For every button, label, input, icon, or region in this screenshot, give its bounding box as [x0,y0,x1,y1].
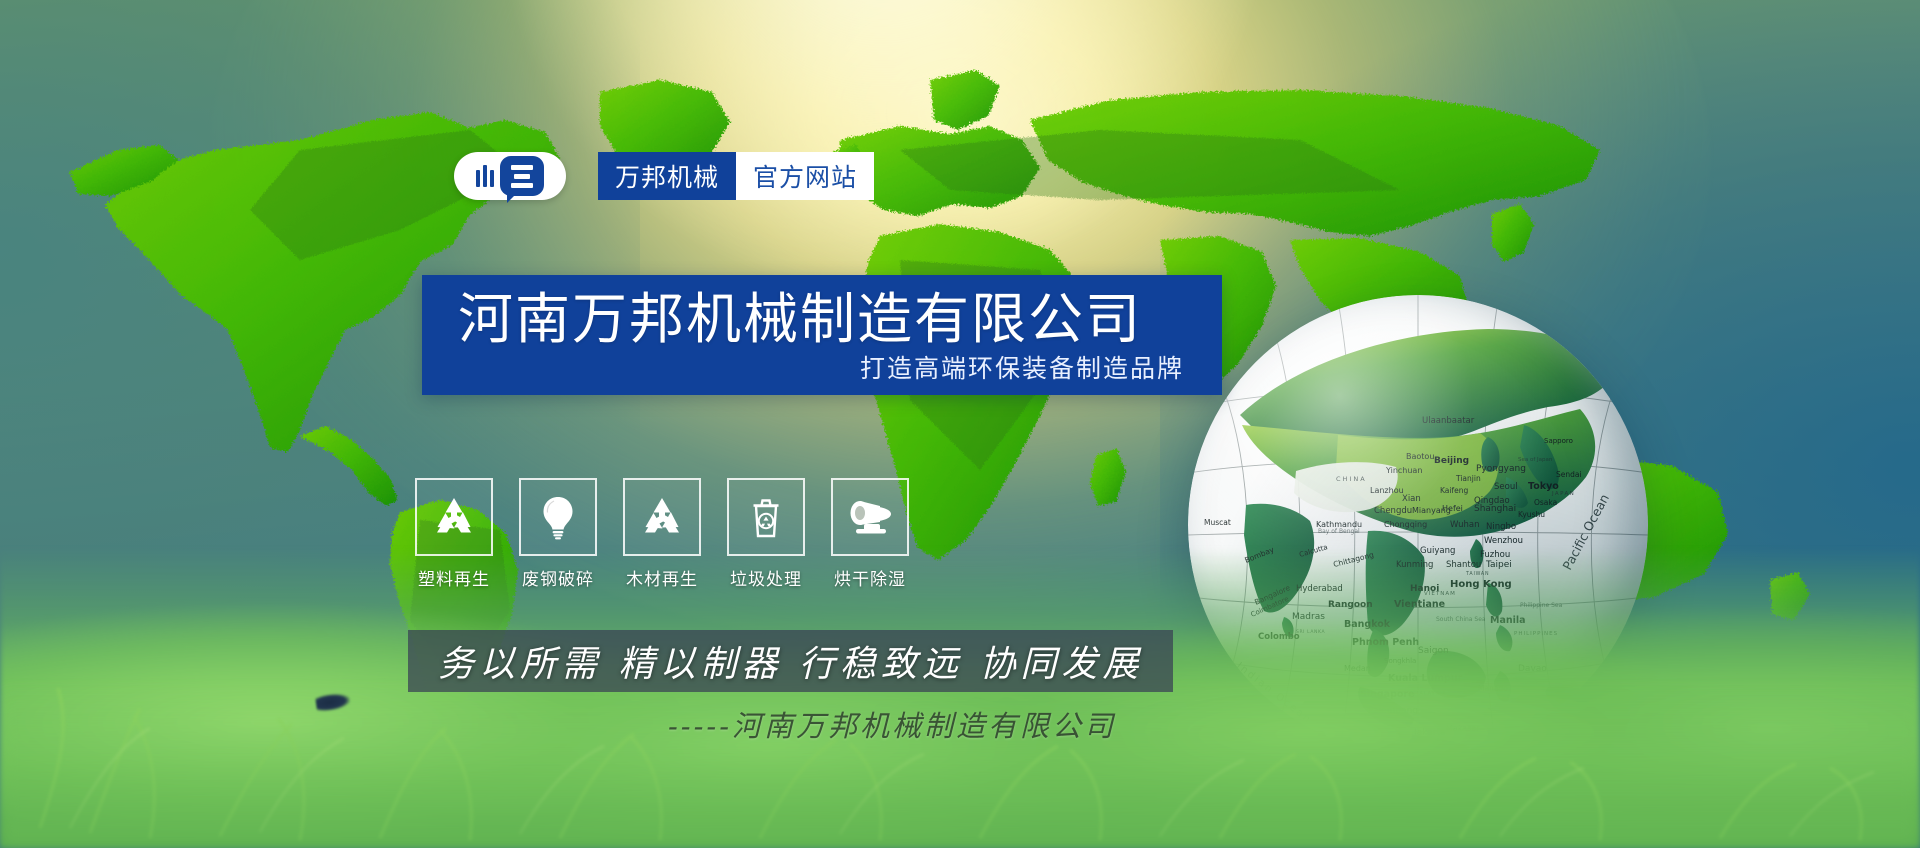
speech-bubble-e-icon [500,156,544,196]
letter-w-bars-icon [476,165,494,187]
svg-text:Sapporo: Sapporo [1544,437,1573,445]
page-title: 河南万邦机械制造有限公司 [458,283,1142,355]
recycle-icon [431,494,477,540]
recycle-icon [639,494,685,540]
feature-label: 垃圾处理 [730,565,802,590]
feature-icon-box [727,478,805,556]
page-subtitle: 打造高端环保装备制造品牌 [860,349,1184,385]
feature-icon-box [519,478,597,556]
feature-item-wood-recycling[interactable]: 木材再生 [624,478,700,590]
slogan-panel: 务以所需 精以制器 行稳致远 协同发展 [408,630,1173,692]
feature-icon-box [415,478,493,556]
brand-tag[interactable]: 万邦机械 [598,152,736,200]
svg-text:Ningbo: Ningbo [1486,522,1516,532]
svg-text:Shanghai: Shanghai [1474,504,1516,514]
svg-text:Seoul: Seoul [1494,482,1518,492]
svg-text:Kathmandu: Kathmandu [1316,520,1362,529]
svg-text:Lanzhou: Lanzhou [1370,486,1404,495]
svg-text:Tianjin: Tianjin [1455,474,1481,483]
feature-icon-box [831,478,909,556]
svg-text:Wuhan: Wuhan [1450,520,1479,530]
svg-text:Xian: Xian [1402,494,1421,504]
svg-text:CHINA: CHINA [1336,475,1367,483]
blower-dryer-icon [846,495,894,539]
svg-text:Baotou: Baotou [1406,452,1434,461]
lightbulb-icon [535,494,581,540]
trash-bin-icon [743,494,789,540]
svg-text:Muscat: Muscat [1204,518,1231,527]
svg-text:Kaifeng: Kaifeng [1440,486,1468,495]
main-title-banner: 河南万邦机械制造有限公司 打造高端环保装备制造品牌 [422,275,1222,395]
svg-text:Tokyo: Tokyo [1528,481,1559,492]
hero-banner-page: Pacific Ocean Indian Ocean South China S… [0,0,1920,848]
svg-text:Beijing: Beijing [1434,456,1469,466]
header-logo-row[interactable]: 万邦机械 官方网站 [454,152,874,200]
official-site-tag[interactable]: 官方网站 [736,152,874,200]
svg-text:Yinchuan: Yinchuan [1385,466,1422,475]
svg-text:Bay of Bengal: Bay of Bengal [1318,528,1360,535]
svg-text:Sea of Japan: Sea of Japan [1518,457,1553,463]
feature-label: 木材再生 [626,565,698,590]
svg-text:Kyushu: Kyushu [1518,510,1545,519]
svg-text:Ulaanbaatar: Ulaanbaatar [1422,416,1475,426]
header-tag-pair: 万邦机械 官方网站 [598,152,874,200]
svg-text:Osaka: Osaka [1534,498,1557,507]
feature-item-plastic-recycling[interactable]: 塑料再生 [416,478,492,590]
svg-text:Chengdu: Chengdu [1374,506,1412,516]
company-logo[interactable] [454,152,566,200]
feature-label: 废钢破碎 [522,565,594,590]
slogan-text: 务以所需 精以制器 行稳致远 协同发展 [438,635,1143,687]
svg-text:Hefei: Hefei [1442,504,1463,513]
feature-label: 烘干除湿 [834,565,906,590]
feature-icon-row: 塑料再生 废钢破碎 [416,478,908,590]
feature-item-scrap-steel-crushing[interactable]: 废钢破碎 [520,478,596,590]
svg-text:Sendai: Sendai [1556,470,1582,479]
feature-icon-box [623,478,701,556]
feature-label: 塑料再生 [418,565,490,590]
feature-item-waste-treatment[interactable]: 垃圾处理 [728,478,804,590]
svg-text:Chongqing: Chongqing [1384,520,1427,529]
feature-item-drying-dehumidification[interactable]: 烘干除湿 [832,478,908,590]
svg-text:Pyongyang: Pyongyang [1476,464,1526,474]
slogan-signature: -----河南万邦机械制造有限公司 [668,703,1116,745]
svg-text:Wenzhou: Wenzhou [1484,536,1523,546]
